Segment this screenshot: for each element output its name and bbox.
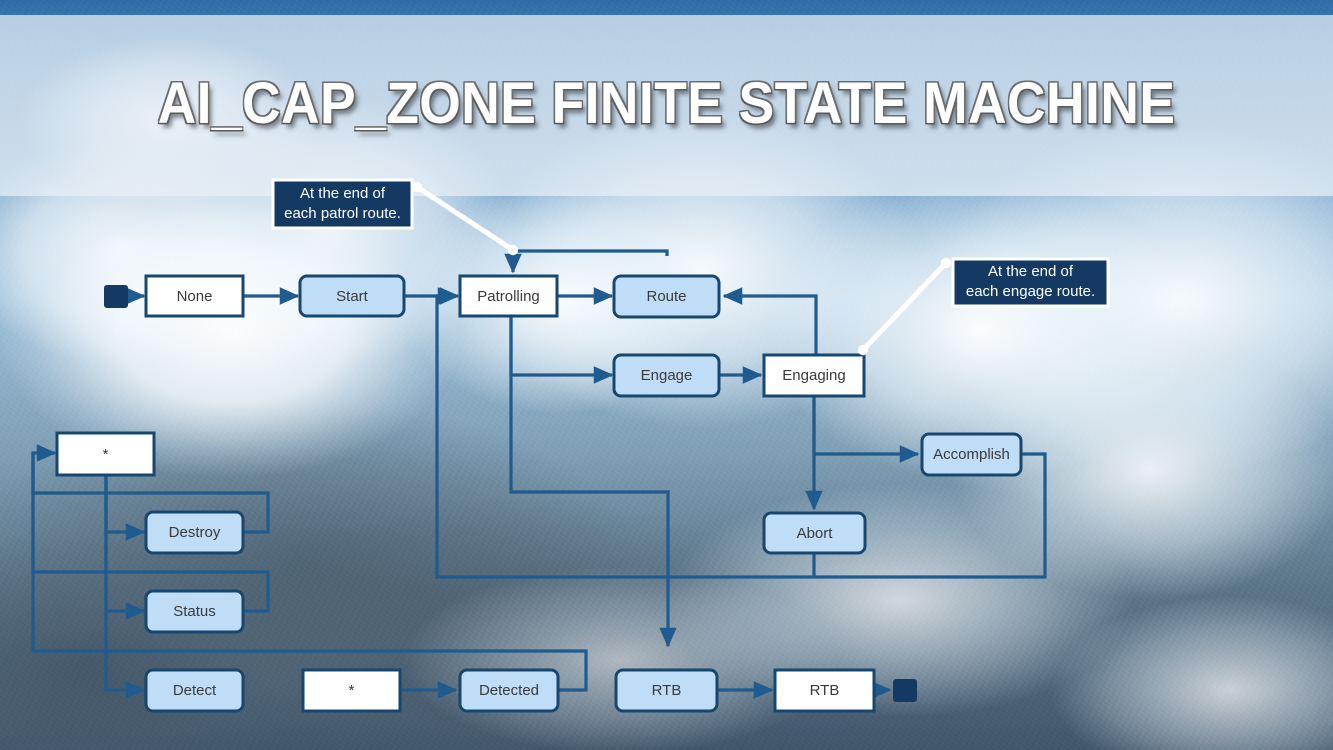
node-route[interactable]: Route bbox=[614, 276, 719, 317]
node-star-any-2-label: * bbox=[349, 682, 355, 699]
node-abort[interactable]: Abort bbox=[764, 513, 865, 553]
edge-patrolling-to-engage bbox=[511, 316, 612, 375]
end-terminal-marker bbox=[893, 679, 917, 702]
node-start[interactable]: Start bbox=[300, 276, 404, 316]
node-engage[interactable]: Engage bbox=[614, 355, 719, 396]
slide-canvas: AI_CAP_ZONE FINITE STATE MACHINE bbox=[0, 0, 1333, 750]
node-engaging[interactable]: Engaging bbox=[764, 355, 864, 396]
node-accomplish[interactable]: Accomplish bbox=[922, 434, 1021, 475]
callout-engage-note[interactable]: At the end of each engage route. bbox=[953, 259, 1108, 306]
node-detect[interactable]: Detect bbox=[146, 670, 243, 711]
node-rtb-final-label: RTB bbox=[810, 682, 840, 699]
callout-patrol-note-line2: each patrol route. bbox=[284, 205, 401, 222]
start-terminal-marker bbox=[104, 285, 128, 308]
node-accomplish-label: Accomplish bbox=[933, 446, 1010, 463]
node-rtb-final[interactable]: RTB bbox=[775, 670, 874, 711]
callout-engage-note-line2: each engage route. bbox=[966, 283, 1095, 300]
node-engaging-label: Engaging bbox=[782, 367, 845, 384]
edge-star-to-detect bbox=[106, 475, 144, 690]
callout-patrol-note[interactable]: At the end of each patrol route. bbox=[273, 180, 412, 228]
callout-patrol-note-line1: At the end of bbox=[300, 185, 386, 202]
node-status[interactable]: Status bbox=[146, 591, 243, 632]
edge-star-to-destroy bbox=[106, 475, 144, 532]
node-engage-label: Engage bbox=[641, 367, 693, 384]
node-route-label: Route bbox=[646, 288, 686, 305]
node-none-label: None bbox=[177, 288, 213, 305]
node-destroy[interactable]: Destroy bbox=[146, 512, 243, 553]
node-detected[interactable]: Detected bbox=[460, 670, 558, 711]
node-patrolling[interactable]: Patrolling bbox=[460, 276, 557, 316]
node-detected-label: Detected bbox=[479, 682, 539, 699]
node-star-any-1[interactable]: * bbox=[57, 433, 154, 475]
node-star-any-2[interactable]: * bbox=[303, 670, 400, 711]
node-abort-label: Abort bbox=[797, 525, 834, 542]
state-machine-diagram: None Start Patrolling Route Engage Engag… bbox=[0, 0, 1333, 750]
node-status-label: Status bbox=[173, 603, 216, 620]
node-patrolling-label: Patrolling bbox=[477, 288, 540, 305]
node-destroy-label: Destroy bbox=[169, 524, 221, 541]
node-none[interactable]: None bbox=[146, 276, 243, 316]
engage-note-leader bbox=[858, 258, 951, 355]
node-star-any-1-label: * bbox=[103, 446, 109, 463]
node-rtb-state[interactable]: RTB bbox=[616, 670, 717, 711]
node-detect-label: Detect bbox=[173, 682, 217, 699]
node-rtb-state-label: RTB bbox=[652, 682, 682, 699]
callout-engage-note-line1: At the end of bbox=[988, 263, 1074, 280]
node-start-label: Start bbox=[336, 288, 369, 305]
patrol-note-leader bbox=[412, 182, 518, 255]
edge-engaging-to-route bbox=[724, 296, 816, 355]
edge-engaging-to-accomplish bbox=[814, 396, 918, 454]
edge-route-to-patrolling bbox=[513, 251, 667, 272]
edge-star-to-status bbox=[106, 475, 144, 611]
